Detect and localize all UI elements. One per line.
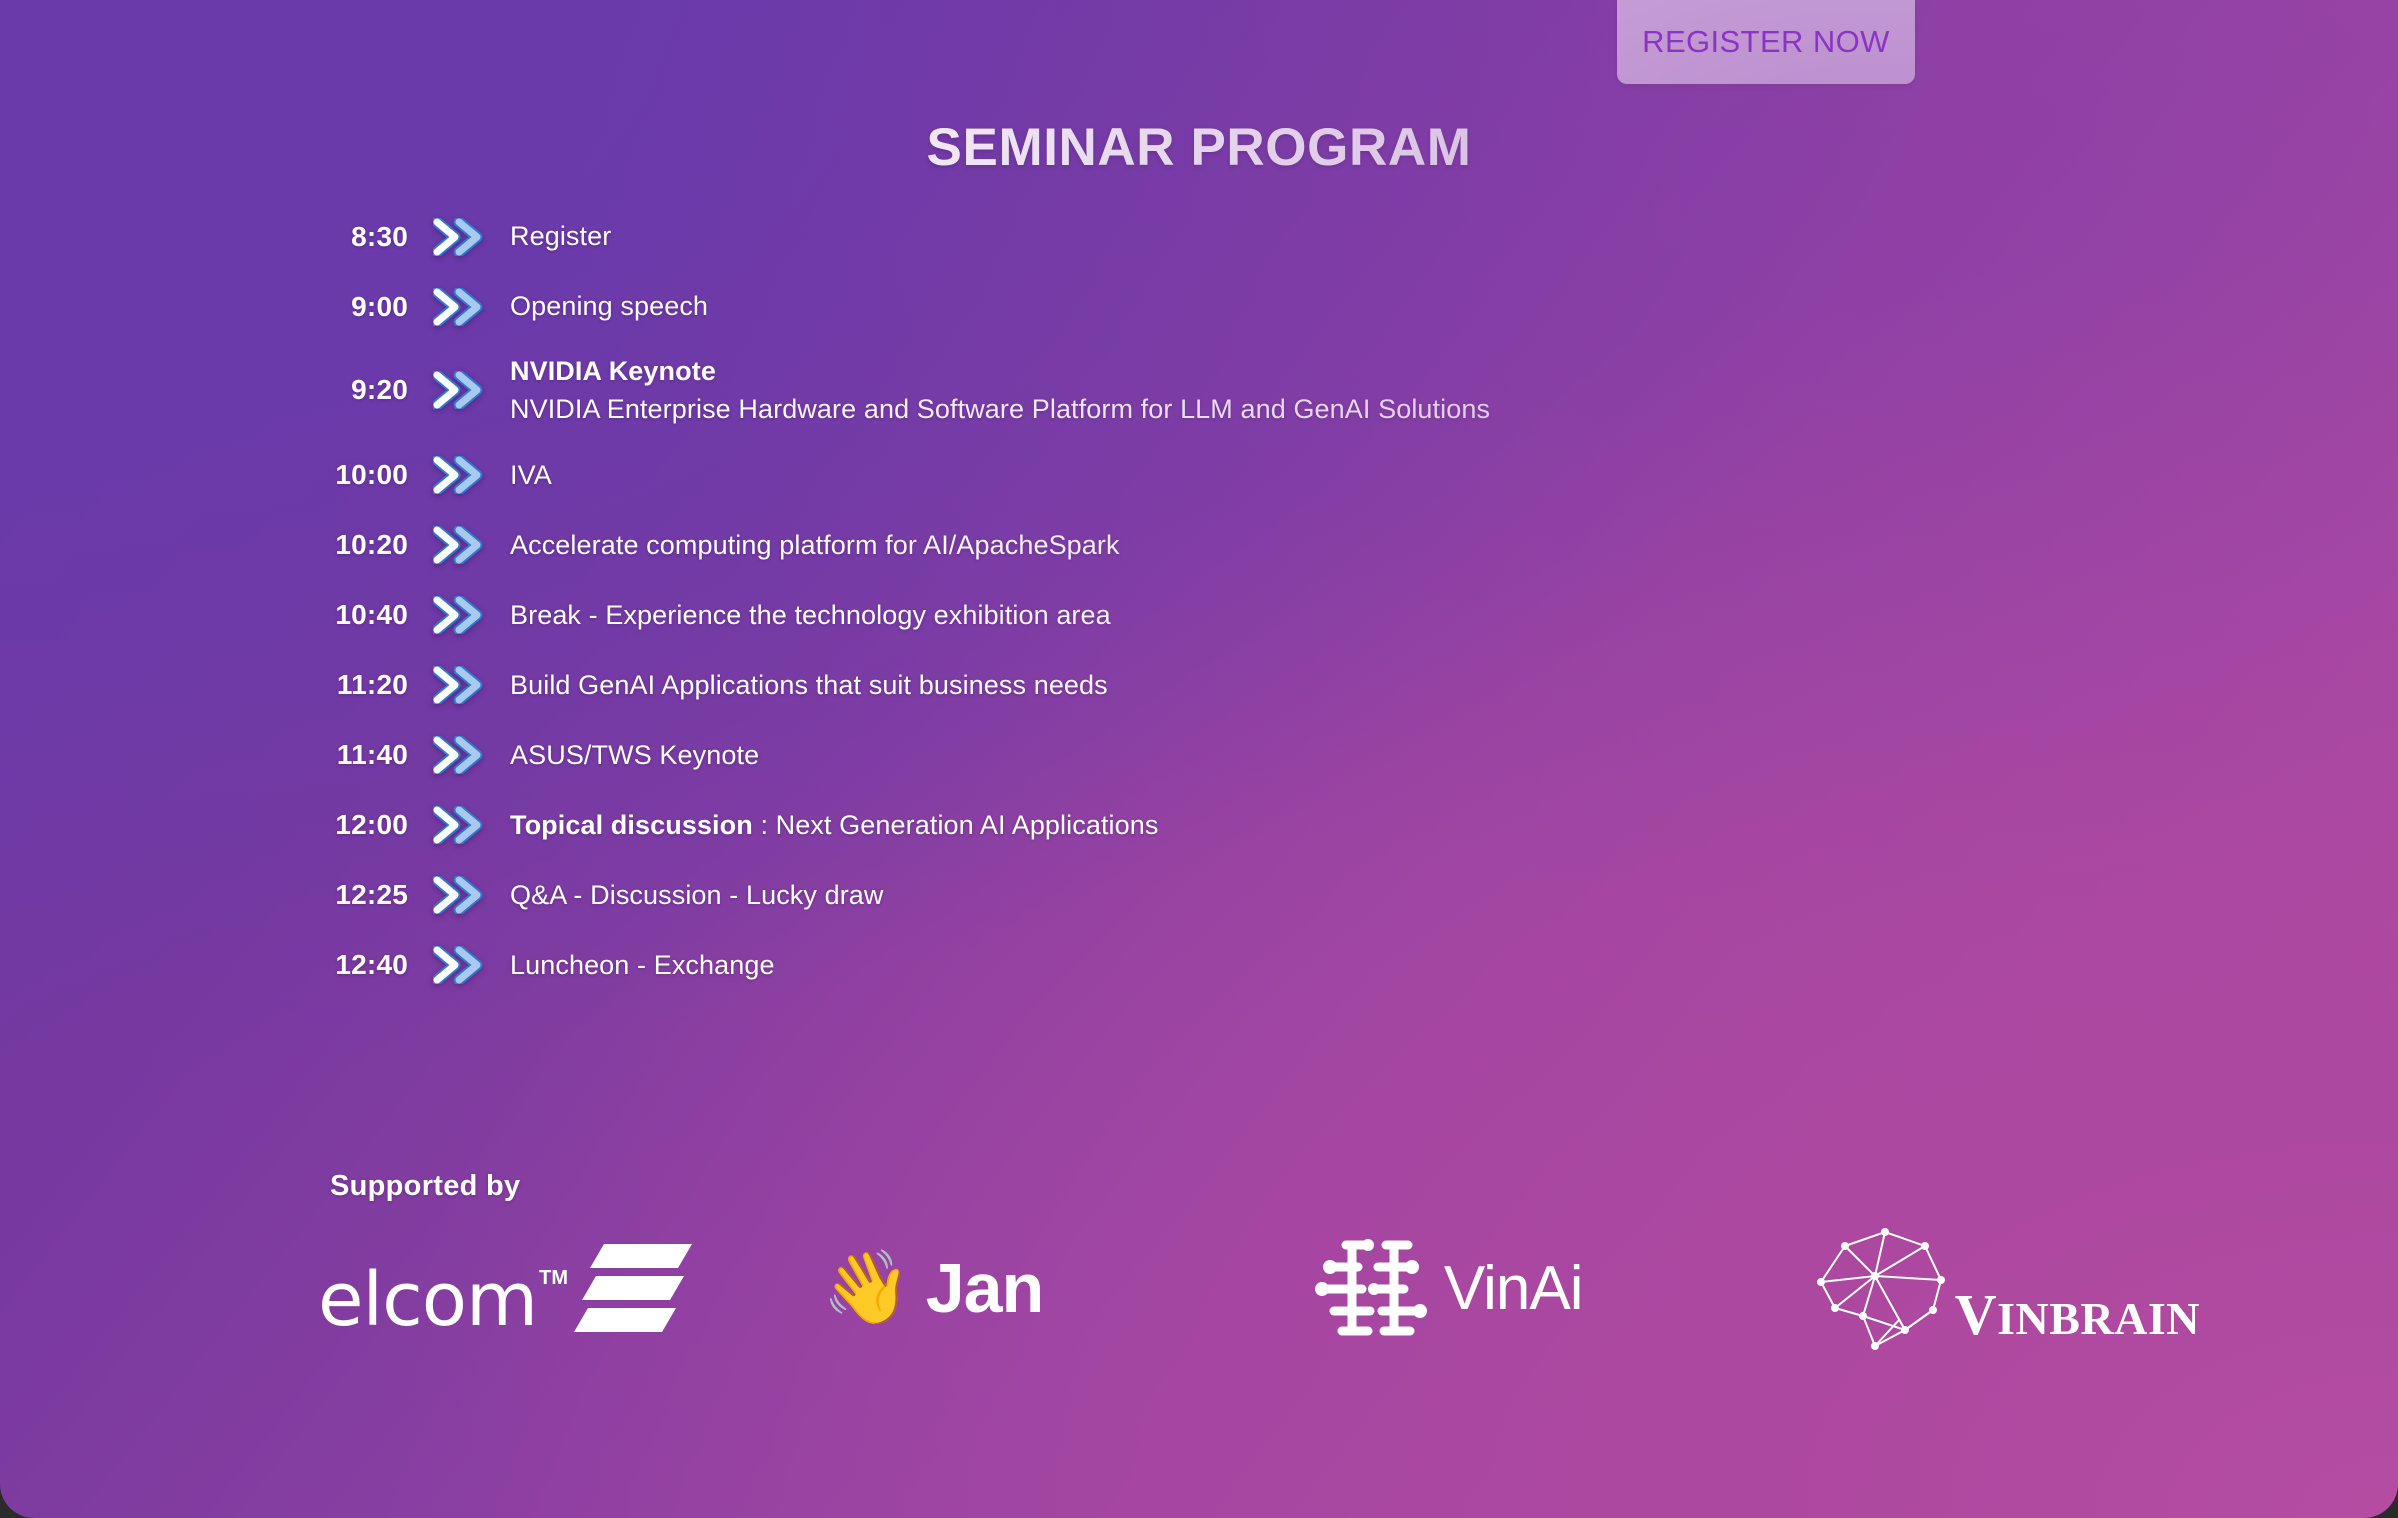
agenda-list: 8:30Register9:00Opening speech9:20NVIDIA…: [330, 212, 2230, 1011]
double-chevron-icon: [432, 287, 486, 327]
agenda-row-time: 10:20: [330, 529, 408, 561]
agenda-row-text: Q&A - Discussion - Lucky draw: [510, 876, 884, 914]
jan-wordmark: Jan: [926, 1248, 1044, 1328]
double-chevron-icon: [432, 875, 486, 915]
sponsor-logo-jan: 👋 Jan: [692, 1223, 1167, 1353]
agenda-row-time: 10:40: [330, 599, 408, 631]
double-chevron-icon: [432, 595, 486, 635]
double-chevron-icon: [432, 945, 486, 985]
supported-by-label: Supported by: [330, 1170, 521, 1203]
agenda-row-text: Luncheon - Exchange: [510, 946, 775, 984]
agenda-row-text: ASUS/TWS Keynote: [510, 736, 759, 774]
agenda-row-time: 12:40: [330, 949, 408, 981]
agenda-row: 10:20Accelerate computing platform for A…: [330, 521, 2230, 570]
agenda-row-time: 9:20: [330, 374, 408, 406]
register-now-button[interactable]: REGISTER NOW: [1617, 0, 1915, 84]
agenda-row-title: Luncheon - Exchange: [510, 950, 775, 980]
agenda-row: 10:40Break - Experience the technology e…: [330, 591, 2230, 640]
agenda-row-title: Build GenAI Applications that suit busin…: [510, 670, 1108, 700]
double-chevron-icon: [432, 370, 486, 410]
agenda-row-text: Break - Experience the technology exhibi…: [510, 596, 1111, 634]
agenda-row-time: 8:30: [330, 221, 408, 253]
double-chevron-icon: [432, 665, 486, 705]
agenda-row-title: NVIDIA Keynote: [510, 352, 1490, 390]
agenda-row-title: Accelerate computing platform for AI/Apa…: [510, 530, 1120, 560]
double-chevron-icon: [432, 525, 486, 565]
vinbrain-cap-letter: V: [1955, 1282, 1997, 1347]
agenda-row-title: ASUS/TWS Keynote: [510, 740, 759, 770]
agenda-row: 11:40ASUS/TWS Keynote: [330, 731, 2230, 780]
agenda-row: 12:00Topical discussion : Next Generatio…: [330, 801, 2230, 850]
elcom-e-mark: [574, 1242, 692, 1334]
agenda-row-time: 12:25: [330, 879, 408, 911]
double-chevron-icon: [432, 455, 486, 495]
double-chevron-icon: [432, 217, 486, 257]
sponsor-logo-elcom: elcom TM: [300, 1223, 692, 1353]
agenda-row: 11:20Build GenAI Applications that suit …: [330, 661, 2230, 710]
agenda-row: 12:40Luncheon - Exchange: [330, 941, 2230, 990]
sponsor-logo-strip: elcom TM 👋 Jan: [300, 1218, 2200, 1358]
trademark-icon: TM: [539, 1267, 568, 1290]
agenda-row-title: Break - Experience the technology exhibi…: [510, 600, 1111, 630]
vinbrain-rest: INBRAIN: [1997, 1293, 2200, 1344]
sponsor-logo-vinbrain: VINBRAIN: [1673, 1223, 2200, 1353]
double-chevron-icon: [432, 805, 486, 845]
agenda-row-text: Register: [510, 217, 611, 255]
agenda-row: 9:20NVIDIA KeynoteNVIDIA Enterprise Hard…: [330, 352, 2230, 429]
agenda-row-time: 11:20: [330, 669, 408, 701]
agenda-row-title: Q&A - Discussion - Lucky draw: [510, 880, 884, 910]
double-chevron-icon: [432, 735, 486, 775]
agenda-row: 9:00Opening speech: [330, 282, 2230, 331]
vinai-circuit-icon: [1312, 1233, 1434, 1343]
agenda-row-time: 12:00: [330, 809, 408, 841]
elcom-wordmark: elcom: [318, 1266, 537, 1334]
agenda-row: 12:25Q&A - Discussion - Lucky draw: [330, 871, 2230, 920]
agenda-row-title: Opening speech: [510, 291, 708, 321]
agenda-row-time: 10:00: [330, 459, 408, 491]
agenda-row-text: Opening speech: [510, 287, 708, 325]
agenda-row-text: IVA: [510, 456, 552, 494]
agenda-row-title: IVA: [510, 460, 552, 490]
agenda-row-text: NVIDIA KeynoteNVIDIA Enterprise Hardware…: [510, 352, 1490, 429]
vinbrain-wordmark: VINBRAIN: [1955, 1281, 2200, 1348]
sponsor-logo-vinai: VinAi: [1167, 1223, 1673, 1353]
agenda-row: 10:00IVA: [330, 451, 2230, 500]
agenda-row-text: Topical discussion : Next Generation AI …: [510, 806, 1159, 844]
agenda-row-title: Register: [510, 221, 611, 251]
agenda-row-text: Build GenAI Applications that suit busin…: [510, 666, 1108, 704]
agenda-row-time: 9:00: [330, 291, 408, 323]
waving-hand-icon: 👋: [822, 1252, 912, 1324]
agenda-row-text: Accelerate computing platform for AI/Apa…: [510, 526, 1120, 564]
seminar-program-slide: REGISTER NOW SEMINAR PROGRAM 8:30Registe…: [0, 0, 2398, 1518]
agenda-row-title: : Next Generation AI Applications: [753, 810, 1159, 840]
vinai-wordmark: VinAi: [1444, 1253, 1583, 1324]
agenda-row-title-bold: Topical discussion: [510, 810, 753, 840]
page-title: SEMINAR PROGRAM: [0, 117, 2398, 178]
agenda-row-time: 11:40: [330, 739, 408, 771]
vinbrain-brain-icon: [1813, 1224, 1973, 1352]
agenda-row: 8:30Register: [330, 212, 2230, 261]
agenda-row-subtitle: NVIDIA Enterprise Hardware and Software …: [510, 390, 1490, 428]
